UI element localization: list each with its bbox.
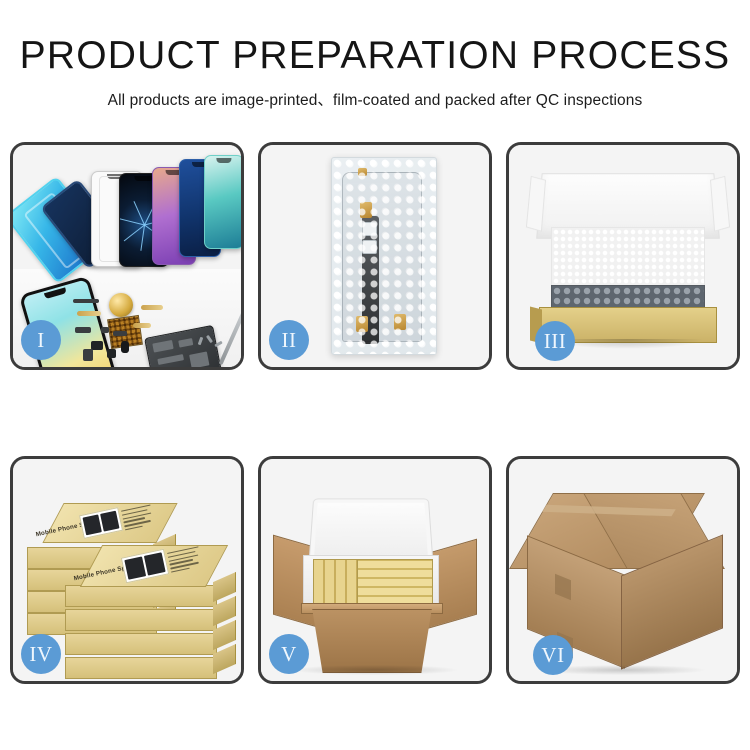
chip	[91, 341, 103, 350]
stacked-box	[65, 585, 217, 607]
gold-tab	[360, 202, 372, 218]
step-4-image: Mobile Phone Spare Parts Mobile Phone Sp…	[13, 459, 241, 681]
page-title: PRODUCT PREPARATION PROCESS	[0, 36, 750, 77]
drop-shadow	[293, 665, 457, 675]
step-2-image: II	[261, 145, 489, 367]
step-panel-1[interactable]: I	[10, 142, 244, 370]
gold-tab	[394, 314, 406, 330]
step-badge-2: II	[269, 320, 309, 360]
gold-tab	[356, 316, 368, 332]
step-badge-6: VI	[533, 635, 573, 675]
small-part	[113, 331, 127, 336]
white-pad	[362, 222, 377, 236]
flex-cable	[133, 323, 151, 328]
step-5-image: V	[261, 459, 489, 681]
page-header: PRODUCT PREPARATION PROCESS All products…	[0, 0, 750, 110]
step-badge-5: V	[269, 634, 309, 674]
wrapped-screen-assembly	[342, 172, 422, 342]
step-6-image: VI	[509, 459, 737, 681]
step-1-image: I	[13, 145, 241, 367]
step-badge-1: I	[21, 320, 61, 360]
crack-line	[140, 225, 145, 251]
stacked-box	[65, 633, 217, 655]
page-subtitle: All products are image-printed、film-coat…	[0, 88, 750, 110]
box-stack: Mobile Phone Spare Parts Mobile Phone Sp…	[27, 485, 237, 671]
small-part	[73, 299, 99, 303]
small-part	[83, 349, 93, 361]
step-panel-2[interactable]: II	[258, 142, 492, 370]
stacked-box	[65, 657, 217, 679]
small-part	[75, 327, 91, 333]
notch	[134, 176, 153, 181]
process-steps-grid: I II III	[10, 142, 740, 684]
stacked-box	[65, 609, 217, 631]
foam-cooler-lid	[309, 498, 434, 559]
gold-component	[109, 293, 133, 317]
yellow-boxes-row	[357, 559, 433, 605]
bubble-wrap-bag	[331, 157, 437, 355]
step-3-image: III	[509, 145, 737, 367]
carton-front-panel	[307, 609, 437, 673]
teal-screen	[204, 155, 244, 249]
camera-module	[121, 341, 129, 353]
flex-cable	[77, 311, 101, 316]
small-part	[101, 327, 109, 333]
step-panel-3[interactable]: III	[506, 142, 740, 370]
notch	[44, 287, 67, 299]
white-foam-sheet	[551, 227, 705, 291]
step-badge-4: IV	[21, 634, 61, 674]
notch	[216, 158, 231, 163]
gold-tab	[358, 168, 367, 176]
step-badge-3: III	[535, 321, 575, 361]
flex-cable	[141, 305, 163, 310]
step-panel-6[interactable]: VI	[506, 456, 740, 684]
screws	[199, 335, 225, 353]
chip	[107, 349, 116, 358]
white-pad	[362, 240, 377, 254]
step-panel-5[interactable]: V	[258, 456, 492, 684]
step-panel-4[interactable]: Mobile Phone Spare Parts Mobile Phone Sp…	[10, 456, 244, 684]
